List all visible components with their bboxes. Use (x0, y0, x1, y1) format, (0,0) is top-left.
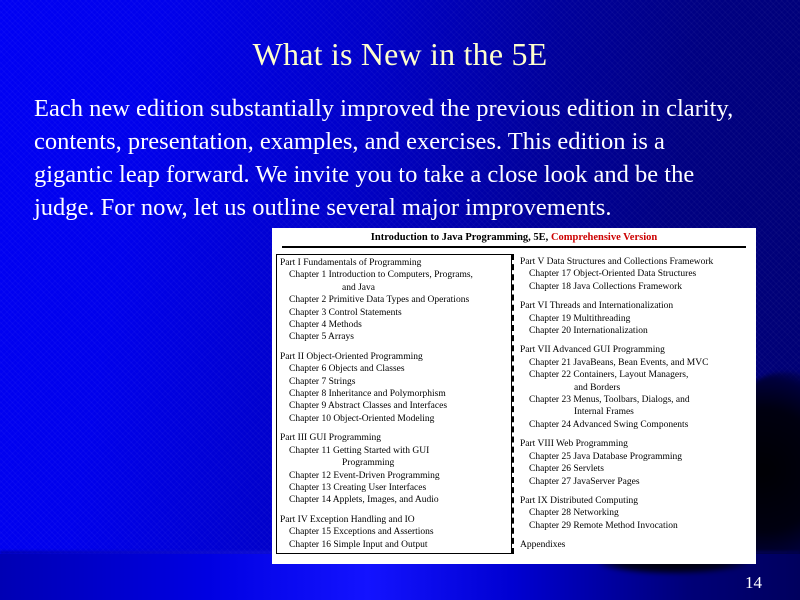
contents-part: Part IX Distributed ComputingChapter 28 … (520, 495, 749, 532)
contents-chapter: Chapter 21 JavaBeans, Bean Events, and M… (520, 357, 749, 369)
contents-chapter: Chapter 5 Arrays (280, 331, 508, 343)
contents-chapter: Chapter 15 Exceptions and Assertions (280, 526, 508, 538)
panel-title-edition: Comprehensive Version (551, 232, 657, 243)
contents-chapter: Chapter 14 Applets, Images, and Audio (280, 494, 508, 506)
contents-chapter: Chapter 27 JavaServer Pages (520, 476, 749, 488)
contents-appendixes: Appendixes (520, 539, 749, 551)
contents-part: Part VIII Web ProgrammingChapter 25 Java… (520, 438, 749, 488)
contents-chapter: Chapter 11 Getting Started with GUI (280, 445, 508, 457)
contents-part: Part IV Exception Handling and IOChapter… (280, 514, 508, 551)
contents-part: Part VI Threads and Internationalization… (520, 300, 749, 337)
contents-chapter: Chapter 29 Remote Method Invocation (520, 520, 749, 532)
contents-part-title: Part IX Distributed Computing (520, 495, 749, 507)
contents-chapter: Chapter 9 Abstract Classes and Interface… (280, 400, 508, 412)
contents-column-right: Part V Data Structures and Collections F… (512, 254, 752, 554)
contents-chapter: Chapter 23 Menus, Toolbars, Dialogs, and (520, 394, 749, 406)
contents-chapter-continuation: Internal Frames (520, 406, 749, 418)
contents-part-title: Part VII Advanced GUI Programming (520, 344, 749, 356)
contents-part-title: Part IV Exception Handling and IO (280, 514, 508, 526)
book-contents-panel: Introduction to Java Programming, 5E, Co… (272, 228, 756, 564)
slide-body-text: Each new edition substantially improved … (34, 92, 746, 224)
contents-part-title: Part II Object-Oriented Programming (280, 351, 508, 363)
contents-column-left: Part I Fundamentals of ProgrammingChapte… (276, 254, 512, 554)
contents-columns: Part I Fundamentals of ProgrammingChapte… (276, 254, 752, 554)
contents-chapter: Chapter 19 Multithreading (520, 313, 749, 325)
contents-chapter: Chapter 7 Strings (280, 376, 508, 388)
contents-chapter: Chapter 24 Advanced Swing Components (520, 419, 749, 431)
contents-chapter: Chapter 17 Object-Oriented Data Structur… (520, 268, 749, 280)
contents-chapter: Chapter 26 Servlets (520, 463, 749, 475)
contents-part-title: Part VIII Web Programming (520, 438, 749, 450)
contents-part: Part VII Advanced GUI ProgrammingChapter… (520, 344, 749, 431)
page-number: 14 (745, 573, 762, 593)
presentation-slide: What is New in the 5E Each new edition s… (0, 0, 800, 600)
contents-chapter: Chapter 28 Networking (520, 507, 749, 519)
contents-chapter: Chapter 8 Inheritance and Polymorphism (280, 388, 508, 400)
contents-chapter: Chapter 12 Event-Driven Programming (280, 470, 508, 482)
contents-chapter: Chapter 1 Introduction to Computers, Pro… (280, 269, 508, 281)
contents-chapter: Chapter 4 Methods (280, 319, 508, 331)
contents-chapter-continuation: Programming (280, 457, 508, 469)
contents-part-title: Part I Fundamentals of Programming (280, 257, 508, 269)
contents-part: Part II Object-Oriented ProgrammingChapt… (280, 351, 508, 425)
contents-chapter: Chapter 22 Containers, Layout Managers, (520, 369, 749, 381)
contents-chapter: Chapter 2 Primitive Data Types and Opera… (280, 294, 508, 306)
contents-chapter: Chapter 3 Control Statements (280, 307, 508, 319)
contents-part: Part III GUI ProgrammingChapter 11 Getti… (280, 432, 508, 506)
contents-chapter: Chapter 16 Simple Input and Output (280, 539, 508, 551)
contents-part-title: Part VI Threads and Internationalization (520, 300, 749, 312)
contents-chapter: Chapter 25 Java Database Programming (520, 451, 749, 463)
contents-chapter: Chapter 18 Java Collections Framework (520, 281, 749, 293)
contents-chapter: Chapter 13 Creating User Interfaces (280, 482, 508, 494)
contents-part-title: Part V Data Structures and Collections F… (520, 256, 749, 268)
panel-title-main: Introduction to Java Programming, 5E, (371, 232, 549, 243)
contents-chapter: Chapter 6 Objects and Classes (280, 363, 508, 375)
panel-title: Introduction to Java Programming, 5E, Co… (282, 231, 746, 248)
contents-chapter: Chapter 10 Object-Oriented Modeling (280, 413, 508, 425)
contents-chapter: Chapter 20 Internationalization (520, 325, 749, 337)
contents-chapter-continuation: and Java (280, 282, 508, 294)
contents-part: Part I Fundamentals of ProgrammingChapte… (280, 257, 508, 344)
contents-chapter-continuation: and Borders (520, 382, 749, 394)
slide-title: What is New in the 5E (0, 34, 800, 74)
contents-part: Part V Data Structures and Collections F… (520, 256, 749, 293)
contents-part-title: Part III GUI Programming (280, 432, 508, 444)
